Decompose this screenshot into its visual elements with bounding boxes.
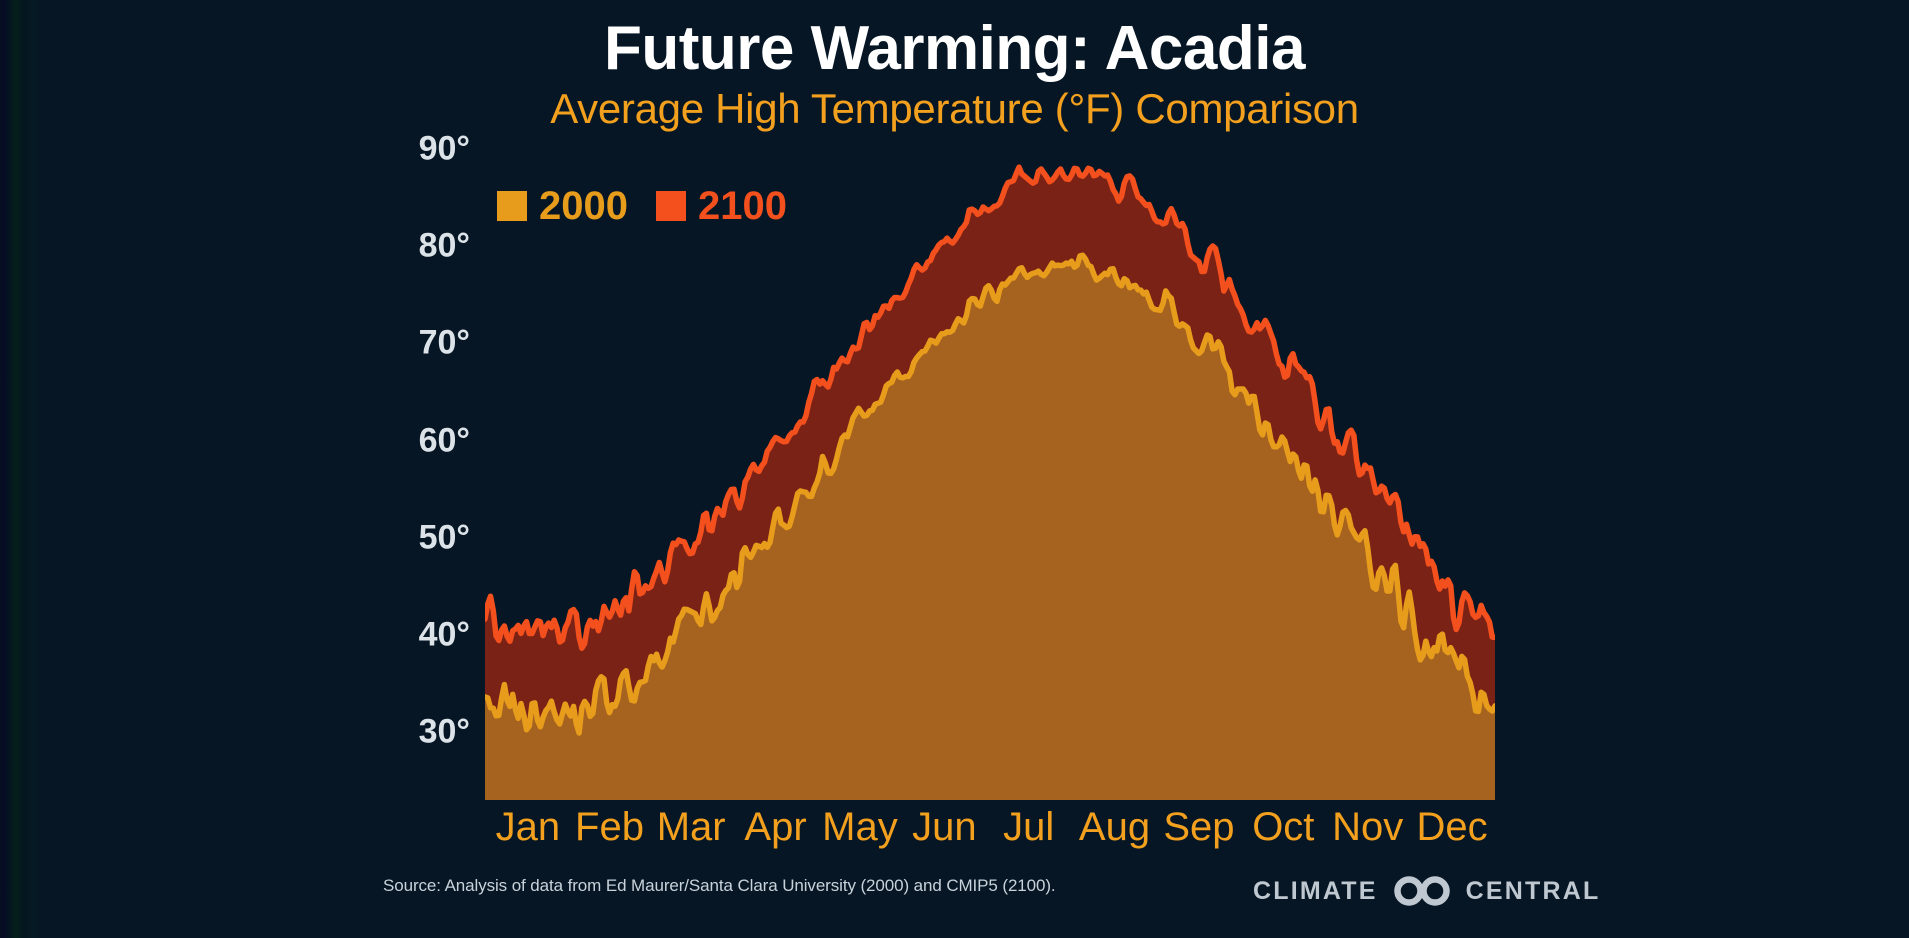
y-tick-label: 30° bbox=[419, 713, 470, 752]
y-tick-label: 70° bbox=[419, 324, 470, 363]
x-tick-label: Dec bbox=[1417, 805, 1488, 850]
x-tick-label: Apr bbox=[744, 805, 806, 850]
x-tick-label: Nov bbox=[1332, 805, 1403, 850]
x-tick-label: Jan bbox=[496, 805, 561, 850]
y-tick-label: 60° bbox=[419, 421, 470, 460]
logo-word-climate: CLIMATE bbox=[1253, 879, 1378, 904]
y-tick-label: 40° bbox=[419, 615, 470, 654]
chart-plot-area bbox=[485, 120, 1495, 800]
source-note: Source: Analysis of data from Ed Maurer/… bbox=[383, 876, 1056, 896]
x-tick-label: Jul bbox=[1003, 805, 1054, 850]
x-tick-label: Jun bbox=[912, 805, 977, 850]
title-block: Future Warming: Acadia Average High Temp… bbox=[0, 16, 1909, 131]
x-tick-label: Oct bbox=[1252, 805, 1314, 850]
page-title: Future Warming: Acadia bbox=[0, 16, 1909, 81]
x-tick-label: Aug bbox=[1079, 805, 1150, 850]
x-tick-label: May bbox=[822, 805, 898, 850]
x-tick-label: Sep bbox=[1163, 805, 1234, 850]
interlocking-rings-icon bbox=[1391, 876, 1453, 906]
area-series-2000 bbox=[485, 255, 1495, 800]
y-tick-label: 50° bbox=[419, 518, 470, 557]
climate-chart-figure: Future Warming: Acadia Average High Temp… bbox=[0, 0, 1909, 938]
x-tick-label: Feb bbox=[575, 805, 644, 850]
y-axis: 90°80°70°60°50°40°30° bbox=[0, 0, 470, 938]
logo-word-central: CENTRAL bbox=[1466, 879, 1601, 904]
climate-central-logo[interactable]: CLIMATE CENTRAL bbox=[1253, 876, 1601, 906]
y-tick-label: 80° bbox=[419, 227, 470, 266]
x-tick-label: Mar bbox=[657, 805, 726, 850]
y-tick-label: 90° bbox=[419, 130, 470, 169]
